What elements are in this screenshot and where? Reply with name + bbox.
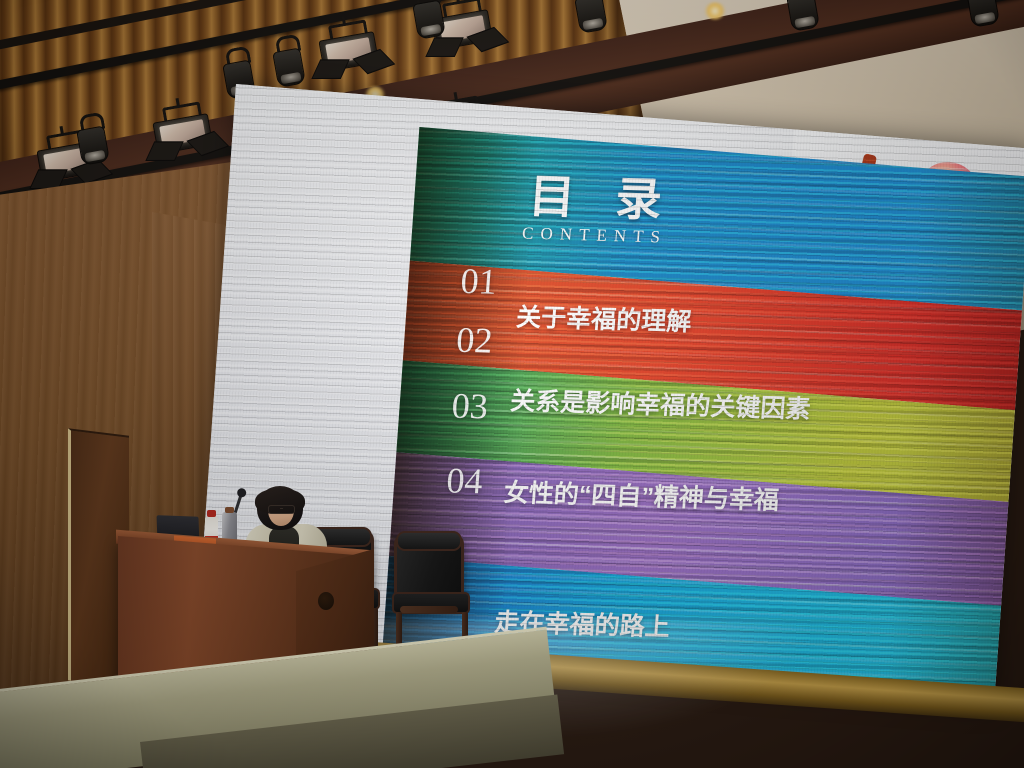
light-body [412, 0, 446, 40]
par-can-light [966, 0, 1000, 28]
par-can-light [786, 0, 820, 32]
chair-headrest [396, 531, 462, 551]
band-right-shadow [912, 168, 1024, 314]
ceiling-downlight [704, 2, 726, 20]
band-left-shadow [410, 127, 539, 270]
band-right-shadow [899, 401, 1024, 505]
light-body [574, 0, 608, 34]
light-body [786, 0, 820, 32]
eyeglasses [268, 505, 295, 514]
par-can-light [574, 0, 608, 34]
par-can-light [76, 126, 110, 166]
light-body [76, 126, 110, 166]
black-leather-armchair[interactable] [394, 534, 464, 596]
light-body [272, 48, 306, 88]
par-can-light [412, 0, 446, 40]
band-right-shadow [905, 302, 1024, 414]
desk-cable-grommet [318, 592, 334, 610]
item-number-03: 03 [449, 389, 491, 425]
par-can-light [272, 48, 306, 88]
band-right-shadow [891, 493, 1024, 609]
slide-title: 目 录 [527, 160, 679, 230]
chair-arm [400, 606, 458, 613]
item-number-04: 04 [443, 463, 485, 499]
light-body [966, 0, 1000, 28]
item-number-01: 01 [457, 264, 499, 300]
item-number-02: 02 [453, 322, 495, 358]
conference-hall-photo: 目 录 CONTENTS 01 02 03 04 关于幸福的理解 关系是影响幸福… [0, 0, 1024, 768]
slide-subtitle: CONTENTS [521, 224, 667, 248]
